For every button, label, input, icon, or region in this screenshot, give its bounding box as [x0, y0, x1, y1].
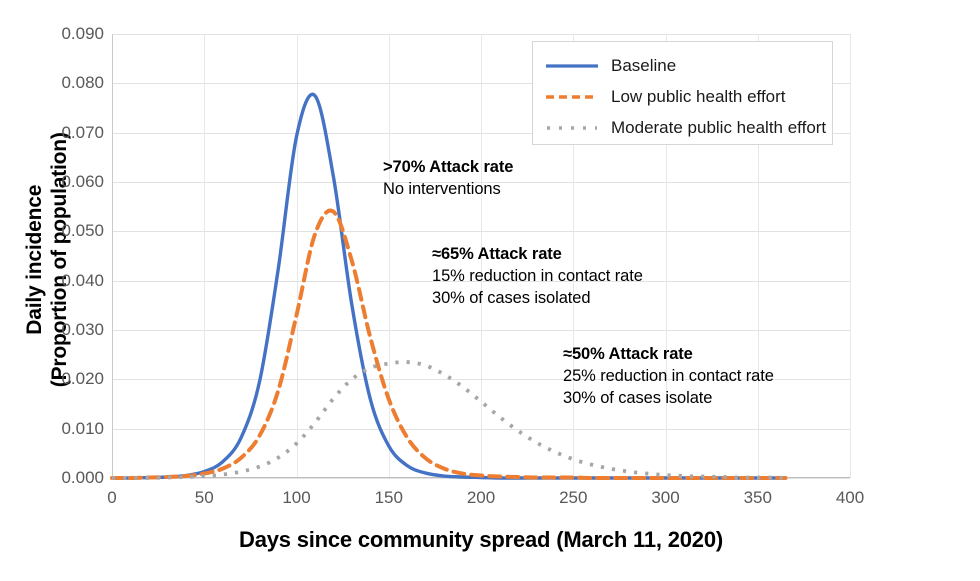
moderate-effort-annotation-line1: 25% reduction in contact rate — [563, 366, 774, 388]
y-axis-title-line2: (Proportion of population) — [48, 45, 73, 475]
legend-label-moderate-effort: Moderate public health effort — [611, 118, 826, 138]
x-axis-tick-label: 350 — [728, 488, 788, 508]
y-axis-tick-label: 0.040 — [24, 271, 104, 291]
y-axis-tick-label: 0.090 — [24, 24, 104, 44]
legend-swatch-moderate-effort-icon — [545, 121, 599, 135]
low-effort-annotation: ≈65% Attack rate 15% reduction in contac… — [432, 244, 643, 310]
x-axis-tick-label: 50 — [174, 488, 234, 508]
moderate-effort-annotation-line2: 30% of cases isolate — [563, 388, 774, 410]
moderate-effort-annotation: ≈50% Attack rate 25% reduction in contac… — [563, 344, 774, 410]
low-effort-annotation-header: ≈65% Attack rate — [432, 244, 643, 266]
legend-item-moderate-effort[interactable]: Moderate public health effort — [533, 112, 832, 143]
x-axis-tick-label: 300 — [636, 488, 696, 508]
baseline-annotation-header: >70% Attack rate — [383, 157, 513, 179]
y-axis-tick-label: 0.050 — [24, 221, 104, 241]
y-axis-tick-label: 0.020 — [24, 369, 104, 389]
x-axis-tick-label: 100 — [267, 488, 327, 508]
legend-item-low-effort[interactable]: Low public health effort — [533, 81, 832, 112]
y-axis-tick-label: 0.070 — [24, 123, 104, 143]
legend-label-low-effort: Low public health effort — [611, 87, 786, 107]
baseline-annotation: >70% Attack rate No interventions — [383, 157, 513, 201]
gridline-vertical — [850, 34, 851, 478]
x-axis-tick-label: 0 — [82, 488, 142, 508]
x-axis-tick-label: 200 — [451, 488, 511, 508]
y-axis-title: Daily incidence (Proportion of populatio… — [23, 45, 73, 475]
x-axis-tick-label: 400 — [820, 488, 880, 508]
baseline-annotation-line1: No interventions — [383, 179, 513, 201]
moderate-effort-annotation-header: ≈50% Attack rate — [563, 344, 774, 366]
legend-item-baseline[interactable]: Baseline — [533, 50, 832, 81]
chart-root: Daily incidence (Proportion of populatio… — [0, 0, 980, 581]
x-axis-tick-label: 150 — [359, 488, 419, 508]
low-effort-annotation-line2: 30% of cases isolated — [432, 288, 643, 310]
y-axis-tick-label: 0.030 — [24, 320, 104, 340]
legend-swatch-low-effort-icon — [545, 90, 599, 104]
y-axis-tick-label: 0.000 — [24, 468, 104, 488]
y-axis-tick-label: 0.010 — [24, 419, 104, 439]
low-effort-annotation-line1: 15% reduction in contact rate — [432, 266, 643, 288]
legend-swatch-baseline-icon — [545, 59, 599, 73]
y-axis-tick-label: 0.060 — [24, 172, 104, 192]
x-axis-tick-label: 250 — [543, 488, 603, 508]
y-axis-tick-label: 0.080 — [24, 73, 104, 93]
x-axis-title: Days since community spread (March 11, 2… — [112, 527, 850, 553]
y-axis-title-line1: Daily incidence — [23, 45, 48, 475]
chart-legend: Baseline Low public health effort Modera… — [532, 41, 833, 145]
legend-label-baseline: Baseline — [611, 56, 676, 76]
